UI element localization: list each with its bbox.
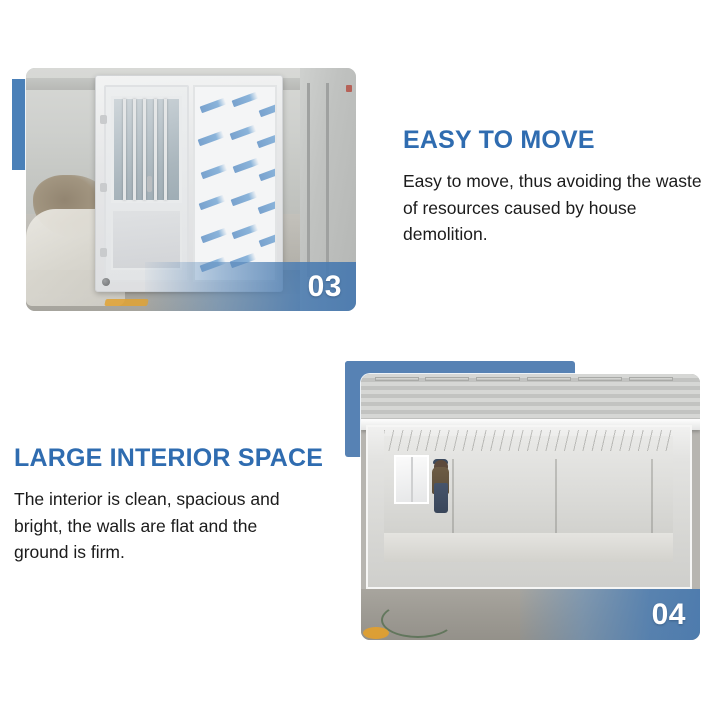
- stacked-roof-panels: [361, 374, 700, 419]
- feature-heading: EASY TO MOVE: [403, 126, 595, 155]
- person-legs: [434, 483, 448, 513]
- feature-number-badge: 04: [520, 589, 700, 640]
- feature-description: The interior is clean, spacious and brig…: [14, 486, 314, 566]
- interior-window: [394, 455, 429, 503]
- feature-description: Easy to move, thus avoiding the waste of…: [403, 168, 705, 248]
- door-photo-scene: 03: [26, 68, 356, 311]
- container-interior-box: [366, 425, 691, 590]
- feature-image-door: 03: [26, 68, 356, 311]
- container-door-unit: [95, 75, 283, 291]
- interior-floor: [384, 533, 673, 562]
- feature-image-interior: 04: [361, 374, 700, 640]
- feature-panel-page: 03 EASY TO MOVE Easy to move, thus avoid…: [0, 0, 720, 720]
- feature-heading: LARGE INTERIOR SPACE: [14, 444, 323, 473]
- protective-film-panel: [193, 85, 277, 282]
- floor-marking: [104, 299, 148, 306]
- red-label-tag: [346, 85, 351, 92]
- door-lower-panel: [111, 209, 181, 271]
- feature-number-badge: 03: [145, 262, 356, 311]
- green-hose: [381, 602, 455, 638]
- ceiling-mesh: [384, 430, 673, 451]
- door-leaf: [104, 85, 190, 282]
- interior-photo-scene: 04: [361, 374, 700, 640]
- door-handle: [147, 176, 152, 192]
- ground-marking: [363, 627, 389, 639]
